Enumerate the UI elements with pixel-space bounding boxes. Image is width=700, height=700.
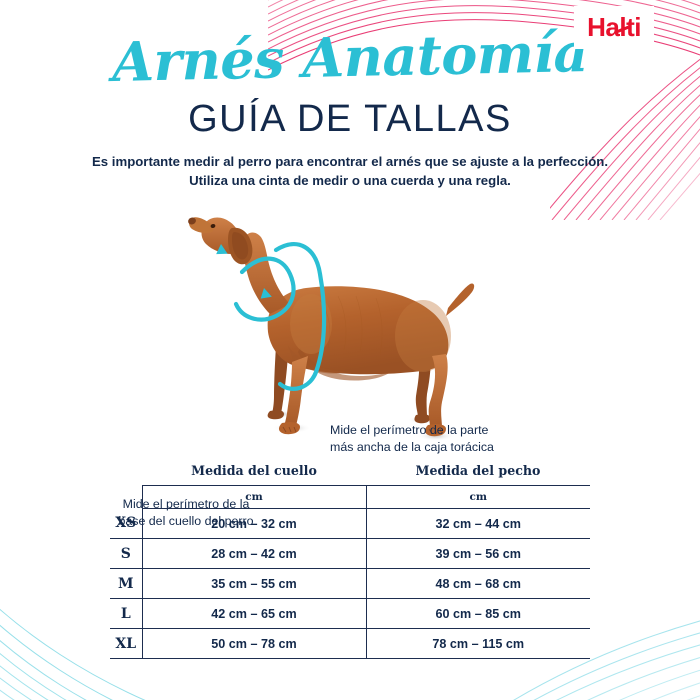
page-subtitle: Es importante medir al perro para encont…	[50, 152, 650, 190]
size-chart-table: Medida del cuello Medida del pecho cm cm…	[110, 455, 590, 659]
row-chest-value: 32 cm – 44 cm	[366, 509, 590, 539]
logo-crossed-l-icon: l	[619, 14, 626, 40]
brand-logo: Halti	[574, 6, 654, 49]
row-neck-value: 20 cm – 32 cm	[142, 509, 366, 539]
unit-neck: cm	[142, 486, 366, 509]
header-chest-measure: Medida del pecho	[366, 455, 590, 486]
annotation-chest-line-2: más ancha de la caja torácica	[330, 439, 545, 456]
row-size-label: XL	[110, 629, 142, 659]
table-row: M 35 cm – 55 cm 48 cm – 68 cm	[110, 569, 590, 599]
dog-illustration-area: Mide el perímetro de la base del cuello …	[0, 196, 700, 456]
row-size-label: XS	[110, 509, 142, 539]
row-chest-value: 39 cm – 56 cm	[366, 539, 590, 569]
brand-logo-text: Halti	[587, 14, 641, 40]
chest-arrow-head	[259, 288, 274, 303]
header-neck-measure: Medida del cuello	[142, 455, 366, 486]
annotation-chest: Mide el perímetro de la parte más ancha …	[330, 422, 545, 455]
row-neck-value: 50 cm – 78 cm	[142, 629, 366, 659]
measurement-arrows	[180, 196, 480, 456]
row-size-label: M	[110, 569, 142, 599]
size-table-container: Medida del cuello Medida del pecho cm cm…	[0, 455, 700, 685]
neck-arrow-head	[215, 244, 230, 259]
unit-chest: cm	[366, 486, 590, 509]
table-header-row: Medida del cuello Medida del pecho	[110, 455, 590, 486]
page-title: GUÍA DE TALLAS	[0, 100, 700, 138]
subtitle-line-1: Es importante medir al perro para encont…	[50, 152, 650, 171]
unit-size-blank	[110, 486, 142, 509]
logo-part-ha: Ha	[587, 12, 619, 42]
table-unit-row: cm cm	[110, 486, 590, 509]
row-chest-value: 60 cm – 85 cm	[366, 599, 590, 629]
row-size-label: L	[110, 599, 142, 629]
table-row: L 42 cm – 65 cm 60 cm – 85 cm	[110, 599, 590, 629]
subtitle-line-2: Utiliza una cinta de medir o una cuerda …	[50, 171, 650, 190]
row-chest-value: 48 cm – 68 cm	[366, 569, 590, 599]
table-row: XL 50 cm – 78 cm 78 cm – 115 cm	[110, 629, 590, 659]
row-size-label: S	[110, 539, 142, 569]
row-neck-value: 28 cm – 42 cm	[142, 539, 366, 569]
header-size	[110, 455, 142, 486]
table-row: S 28 cm – 42 cm 39 cm – 56 cm	[110, 539, 590, 569]
annotation-chest-line-1: Mide el perímetro de la parte	[330, 422, 545, 439]
table-row: XS 20 cm – 32 cm 32 cm – 44 cm	[110, 509, 590, 539]
row-neck-value: 35 cm – 55 cm	[142, 569, 366, 599]
row-neck-value: 42 cm – 65 cm	[142, 599, 366, 629]
sizing-guide-page: Halti Arnés Anatomía GUÍA DE TALLAS Es i…	[0, 0, 700, 700]
row-chest-value: 78 cm – 115 cm	[366, 629, 590, 659]
